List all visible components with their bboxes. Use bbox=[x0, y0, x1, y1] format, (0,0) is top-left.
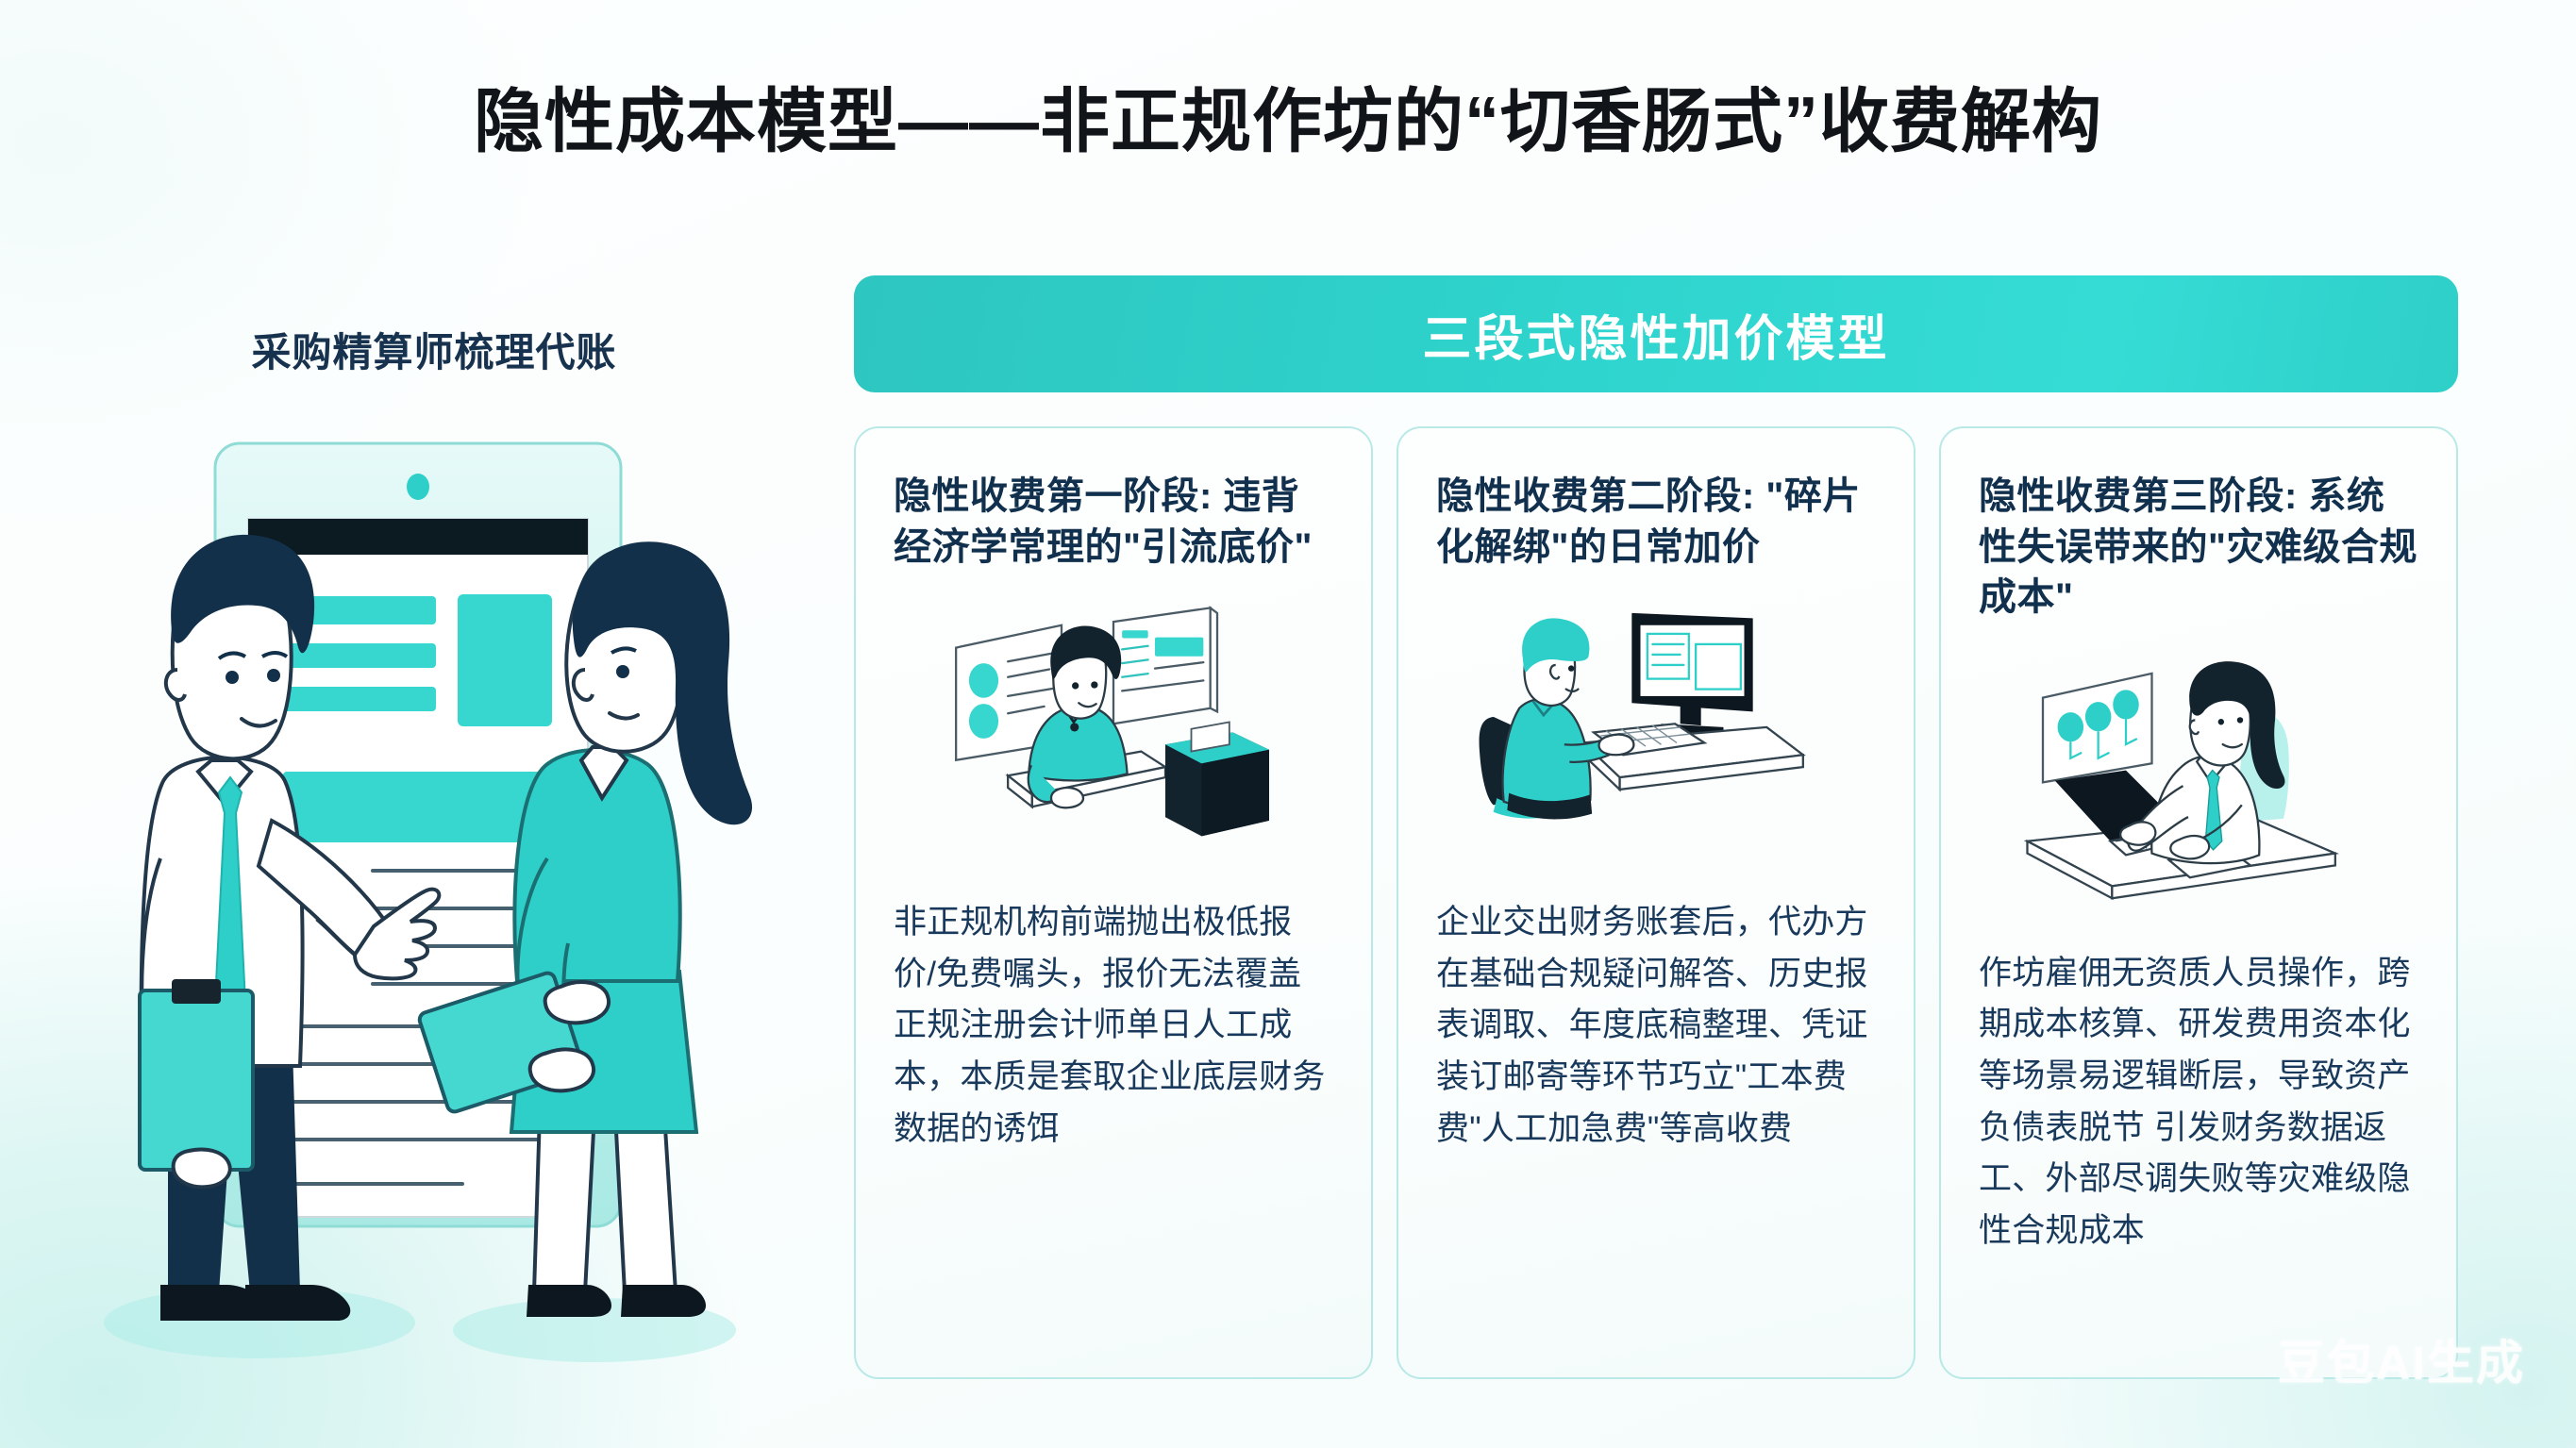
tablet-camera bbox=[407, 474, 429, 500]
stage-card-3-body: 作坊雇佣无资质人员操作，跨期成本核算、研发费用资本化等场景易逻辑断层，导致资产负… bbox=[1979, 948, 2418, 1257]
clipboard bbox=[140, 990, 253, 1170]
stage-card-1-body: 非正规机构前端抛出极低报价/免费嘱头，报价无法覆盖正规注册会计师单日人工成本，本… bbox=[894, 897, 1333, 1155]
infographic-canvas: 隐性成本模型——非正规作坊的“切香肠式”收费解构 采购精算师梳理代账 bbox=[0, 0, 2576, 1448]
stage-card-1-title: 隐性收费第一阶段: 违背经济学常理的"引流底价" bbox=[894, 472, 1333, 573]
stage-card-1[interactable]: 隐性收费第一阶段: 违背经济学常理的"引流底价" bbox=[854, 426, 1373, 1379]
two-people-reviewing-tablet-illustration bbox=[57, 387, 811, 1406]
left-illustration-block: 采购精算师梳理代账 bbox=[57, 321, 811, 1406]
stage-card-3[interactable]: 隐性收费第三阶段: 系统性失误带来的"灾难级合规成本" bbox=[1939, 426, 2458, 1379]
woman-at-laptop-illustration bbox=[1979, 641, 2418, 924]
tablet-statusbar bbox=[248, 519, 588, 555]
left-illustration-caption: 采购精算师梳理代账 bbox=[57, 321, 811, 378]
page-title: 隐性成本模型——非正规作坊的“切香肠式”收费解构 bbox=[0, 83, 2576, 161]
person-at-desk-with-panels-illustration bbox=[894, 590, 1333, 873]
stage-card-3-title: 隐性收费第三阶段: 系统性失误带来的"灾难级合规成本" bbox=[1979, 472, 2418, 624]
model-banner-title: 三段式隐性加价模型 bbox=[1422, 299, 1889, 370]
watermark: 豆包AI生成 bbox=[2278, 1325, 2525, 1393]
stage-card-2-body: 企业交出财务账套后，代办方在基础合规疑问解答、历史报表调取、年度底稿整理、凭证装… bbox=[1436, 897, 1876, 1155]
model-banner: 三段式隐性加价模型 bbox=[854, 275, 2458, 392]
stage-card-2[interactable]: 隐性收费第二阶段: "碎片化解绑"的日常加价 bbox=[1397, 426, 1915, 1379]
stage-card-2-title: 隐性收费第二阶段: "碎片化解绑"的日常加价 bbox=[1436, 472, 1876, 573]
stage-card-list: 隐性收费第一阶段: 违背经济学常理的"引流底价" bbox=[854, 426, 2458, 1379]
person-at-desktop-computer-illustration bbox=[1436, 590, 1876, 873]
